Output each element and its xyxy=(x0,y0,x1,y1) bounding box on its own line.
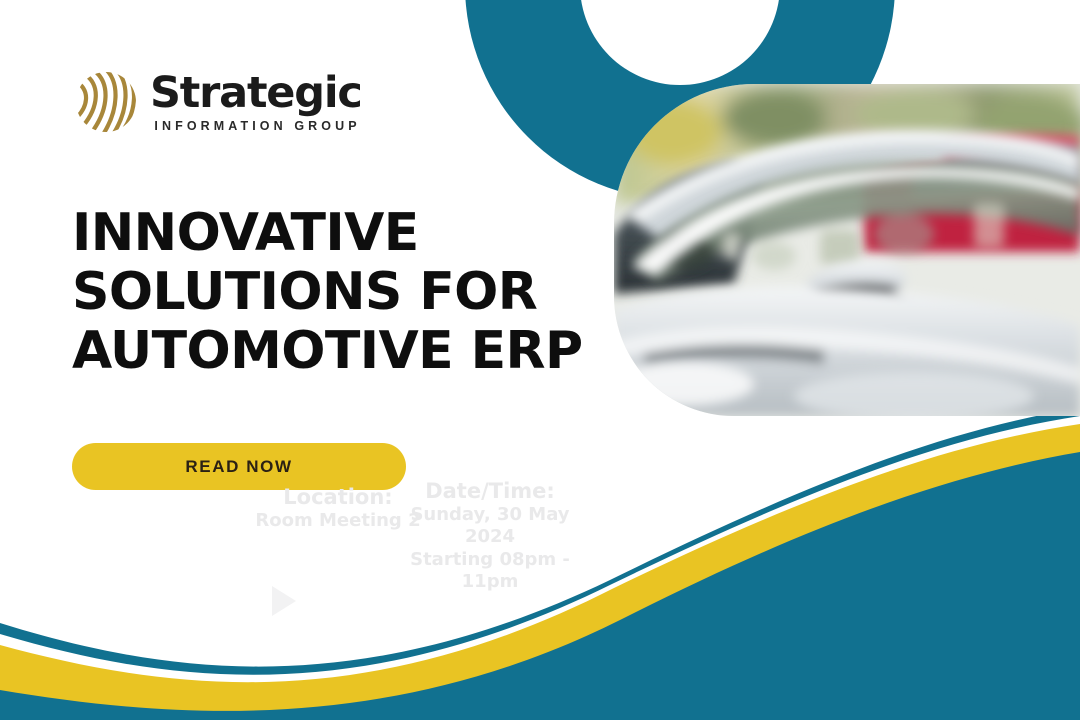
headline-line-1: INNOVATIVE xyxy=(72,204,592,263)
event-datetime-block: Date/Time: Sunday, 30 May 2024 Starting … xyxy=(390,478,590,593)
hero-photo xyxy=(614,84,1080,416)
event-datetime-date: Sunday, 30 May 2024 xyxy=(390,504,590,549)
play-triangle-icon xyxy=(272,586,296,616)
brand-logo-text: Strategic INFORMATION GROUP xyxy=(150,72,362,133)
brand-logo[interactable]: Strategic INFORMATION GROUP xyxy=(72,68,362,136)
brand-tagline: INFORMATION GROUP xyxy=(154,120,360,133)
event-datetime-time: Starting 08pm - 11pm xyxy=(390,549,590,594)
headline-line-2: SOLUTIONS FOR xyxy=(72,263,592,322)
swirl-globe-icon xyxy=(72,68,140,136)
read-now-button[interactable]: READ NOW xyxy=(72,443,406,490)
headline-line-3: AUTOMOTIVE ERP xyxy=(72,322,592,381)
marketing-banner: Strategic INFORMATION GROUP INNOVATIVE S… xyxy=(0,0,1080,720)
event-datetime-label: Date/Time: xyxy=(390,478,590,504)
page-title: INNOVATIVE SOLUTIONS FOR AUTOMOTIVE ERP xyxy=(72,204,592,380)
brand-name: Strategic xyxy=(150,72,362,115)
